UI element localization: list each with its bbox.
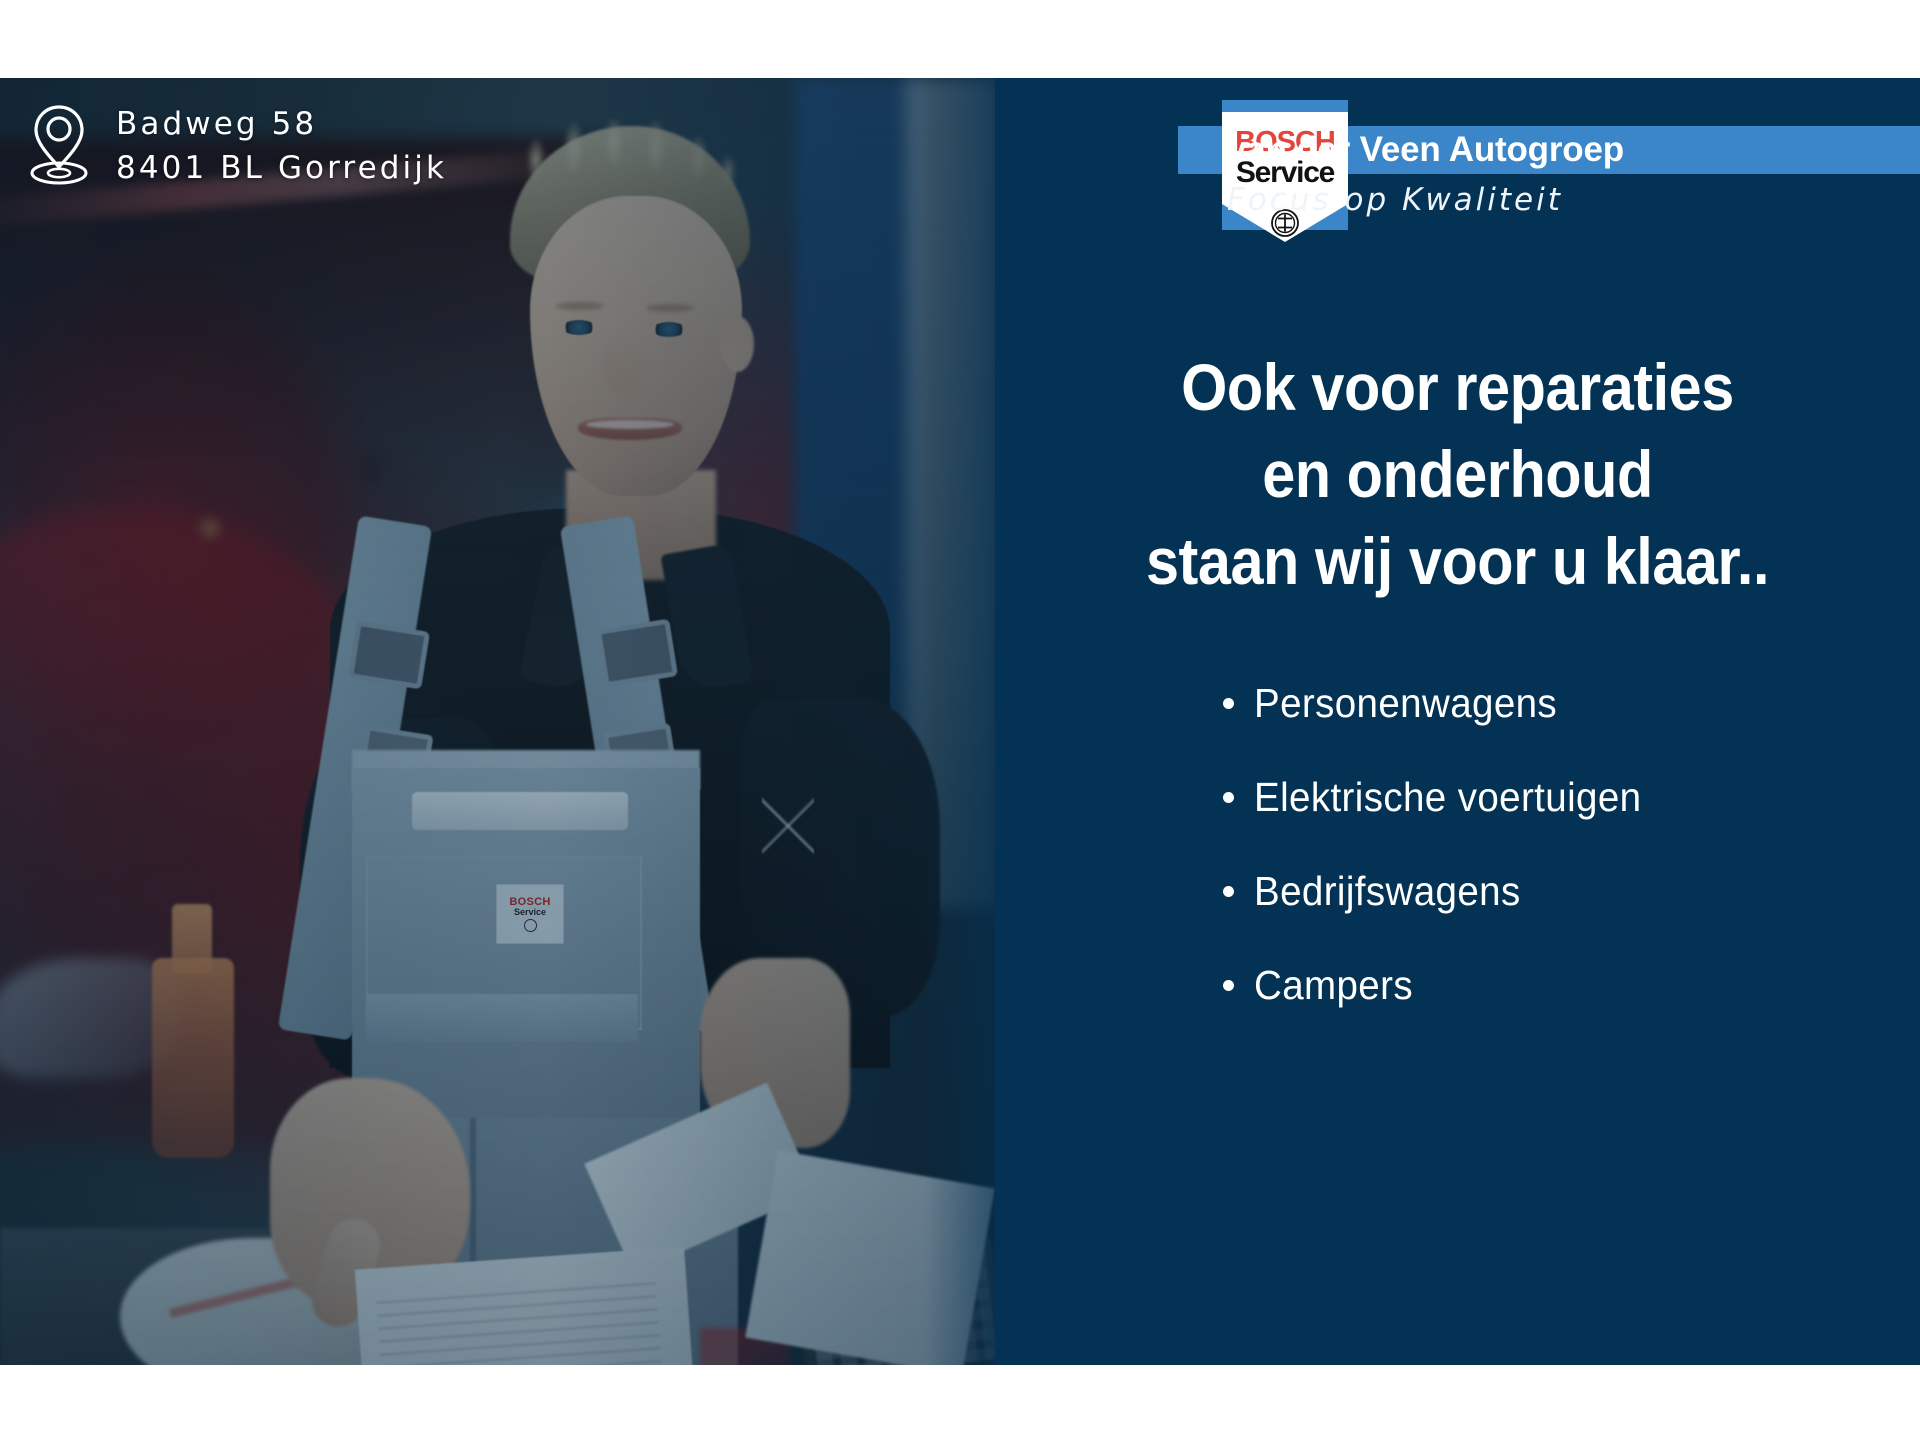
address-text: Badweg 58 8401 BL Gorredijk	[116, 102, 447, 190]
photo-right-fade	[925, 78, 995, 1365]
service-label: Campers	[1254, 962, 1413, 1009]
list-item: Campers	[1223, 938, 1693, 1032]
map-pin-icon	[28, 103, 90, 189]
workshop-photo: BOSCH Service	[0, 78, 995, 1365]
address-line-1: Badweg 58	[116, 102, 447, 146]
list-item: Elektrische voertuigen	[1223, 750, 1693, 844]
service-label: Personenwagens	[1254, 680, 1557, 727]
services-list: Personenwagens Elektrische voertuigen Be…	[995, 656, 1920, 1032]
headline: Ook voor reparaties en onderhoud staan w…	[1041, 344, 1874, 605]
photo-color-grade-secondary	[0, 78, 995, 1365]
advertisement-banner: BOSCH Service	[0, 0, 1920, 1440]
address-line-2: 8401 BL Gorredijk	[116, 146, 447, 190]
headline-line-3: staan wij voor u klaar..	[1041, 518, 1874, 605]
headline-line-2: en onderhoud	[1041, 431, 1874, 518]
list-item: Bedrijfswagens	[1223, 844, 1693, 938]
banner-body: BOSCH Service	[0, 78, 1920, 1365]
bullet-dot-icon	[1223, 980, 1234, 991]
headline-line-1: Ook voor reparaties	[1041, 344, 1874, 431]
address-block: Badweg 58 8401 BL Gorredijk	[28, 102, 447, 190]
company-tagline: Focus op Kwaliteit	[1227, 182, 1563, 218]
list-item: Personenwagens	[1223, 656, 1693, 750]
company-name: van der Veen Autogroep	[1227, 126, 1624, 174]
bullet-dot-icon	[1223, 698, 1234, 709]
bosch-logo-top-band	[1222, 100, 1348, 112]
service-label: Bedrijfswagens	[1254, 868, 1521, 915]
message-panel: BOSCH Service van der Veen Autogroep Foc…	[995, 78, 1920, 1365]
service-label: Elektrische voertuigen	[1254, 774, 1641, 821]
bullet-dot-icon	[1223, 792, 1234, 803]
bullet-dot-icon	[1223, 886, 1234, 897]
